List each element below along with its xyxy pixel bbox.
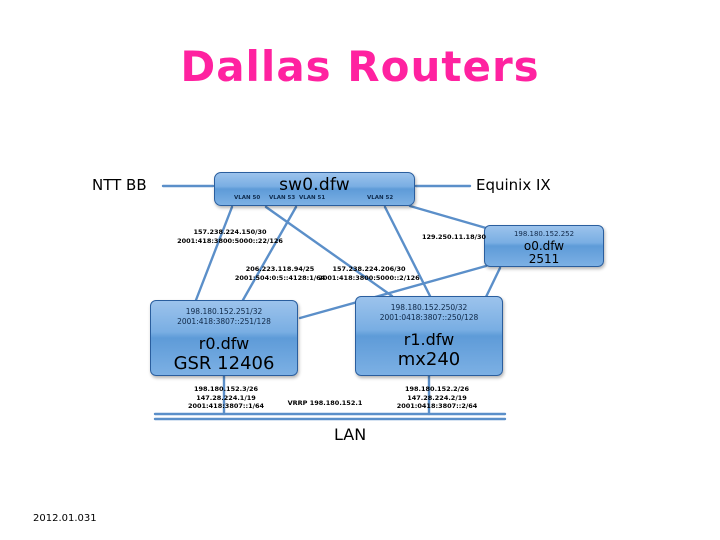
sw0-name: sw0.dfw <box>215 173 414 194</box>
annotation-ix-r0: 206.223.118.94/25 2001:504:0:5::4128:1/6… <box>232 265 328 282</box>
annotation-ntt-r1-line1: 157.238.224.206/30 <box>316 265 422 274</box>
node-sw0-dfw[interactable]: sw0.dfw VLAN 50 VLAN 53 VLAN 51 VLAN 52 <box>214 172 415 206</box>
vlan-label-52: VLAN 52 <box>367 195 393 202</box>
annotation-lan-left-line3: 2001:418:3807::1/64 <box>164 402 288 411</box>
vlan-label-53: VLAN 53 <box>269 195 295 202</box>
annotation-nttbb-transit: 129.250.11.18/30 <box>404 233 504 242</box>
annotation-lan-left-line1: 198.180.152.3/26 <box>164 385 288 394</box>
annotation-ntt-r0-line1: 157.238.224.150/30 <box>168 228 292 237</box>
annotation-ix-r0-line1: 206.223.118.94/25 <box>232 265 328 274</box>
r0-ipv4: 198.180.152.251/32 <box>151 301 297 317</box>
node-r0-dfw[interactable]: 198.180.152.251/32 2001:418:3807::251/12… <box>150 300 298 376</box>
annotation-lan-left: 198.180.152.3/26 147.28.224.1/19 2001:41… <box>164 385 288 411</box>
annotation-nttbb-transit-line1: 129.250.11.18/30 <box>404 233 504 242</box>
r1-name: r1.dfw <box>356 322 502 349</box>
annotation-ntt-r1-line2: 2001:418:3800:5000::2/126 <box>316 274 422 283</box>
external-label-equinix-ix: Equinix IX <box>476 176 551 194</box>
node-r1-dfw[interactable]: 198.180.152.250/32 2001:0418:3807::250/1… <box>355 296 503 376</box>
annotation-ntt-r1: 157.238.224.206/30 2001:418:3800:5000::2… <box>316 265 422 282</box>
lan-label: LAN <box>334 425 366 444</box>
link-vlan50-r0 <box>196 207 232 300</box>
o0-model: 2511 <box>485 253 603 266</box>
annotation-vrrp: VRRP 198.180.152.1 <box>272 399 378 408</box>
annotation-ix-r0-line2: 2001:504:0:5::4128:1/64 <box>232 274 328 283</box>
r0-name: r0.dfw <box>151 326 297 353</box>
annotation-lan-left-line2: 147.28.224.1/19 <box>164 394 288 403</box>
annotation-ntt-r0-line2: 2001:418:3800:5000::22/126 <box>168 237 292 246</box>
external-label-ntt-bb: NTT BB <box>92 176 147 194</box>
link-sw0-o0 <box>410 206 486 228</box>
slide-canvas: Dallas Routers <box>0 0 720 540</box>
r0-model: GSR 12406 <box>151 353 297 374</box>
link-vlan53-r1 <box>266 207 392 296</box>
annotation-lan-right: 198.180.152.2/26 147.28.224.2/19 2001:04… <box>370 385 504 411</box>
r1-ipv4: 198.180.152.250/32 <box>356 297 502 313</box>
annotation-ntt-r0: 157.238.224.150/30 2001:418:3800:5000::2… <box>168 228 292 245</box>
r1-model: mx240 <box>356 349 502 370</box>
node-o0-dfw[interactable]: 198.180.152.252 o0.dfw 2511 <box>484 225 604 267</box>
annotation-lan-right-line1: 198.180.152.2/26 <box>370 385 504 394</box>
r0-ipv6: 2001:418:3807::251/128 <box>151 317 297 327</box>
vlan-label-50: VLAN 50 <box>234 195 260 202</box>
annotation-lan-right-line3: 2001:0418:3807::2/64 <box>370 402 504 411</box>
annotation-lan-right-line2: 147.28.224.2/19 <box>370 394 504 403</box>
footer-date: 2012.01.031 <box>33 513 97 524</box>
link-vlan51-r0 <box>243 207 296 300</box>
annotation-vrrp-line1: VRRP 198.180.152.1 <box>272 399 378 408</box>
r1-ipv6: 2001:0418:3807::250/128 <box>356 313 502 323</box>
vlan-label-51: VLAN 51 <box>299 195 325 202</box>
sw0-vlan-row: VLAN 50 VLAN 53 VLAN 51 VLAN 52 <box>215 195 415 206</box>
